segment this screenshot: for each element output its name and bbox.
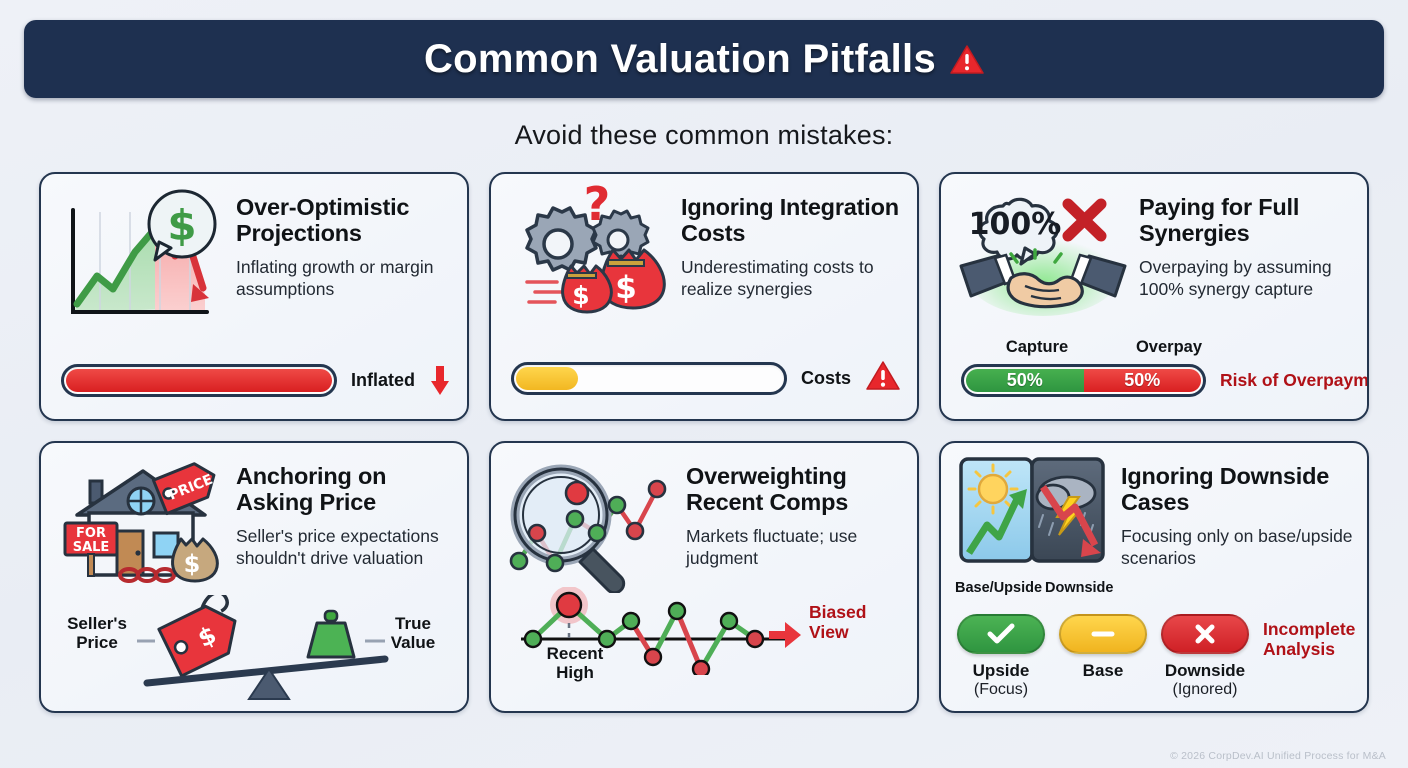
split-bar-track[interactable]: 50% 50% bbox=[961, 364, 1206, 397]
scenario-downside[interactable]: Downside (Ignored) bbox=[1161, 614, 1249, 699]
overpay-label: Overpay bbox=[1103, 338, 1235, 357]
downside-sub: (Ignored) bbox=[1161, 681, 1249, 699]
svg-text:100%: 100% bbox=[969, 207, 1062, 242]
synergy-split-meter: 50% 50% Risk of Overpayment bbox=[961, 364, 1351, 397]
svg-text:SALE: SALE bbox=[73, 540, 110, 555]
overpay-segment: 50% bbox=[1084, 369, 1202, 392]
svg-text:$: $ bbox=[167, 201, 196, 250]
handshake-100-percent-x-icon: 100% bbox=[955, 184, 1133, 329]
card-description: Markets fluctuate; use judgment bbox=[686, 526, 903, 570]
subtitle: Avoid these common mistakes: bbox=[24, 120, 1384, 151]
downside-name: Downside bbox=[1161, 661, 1249, 681]
base-pill[interactable] bbox=[1059, 614, 1147, 654]
progress-bar-track[interactable] bbox=[511, 362, 787, 395]
check-icon bbox=[986, 622, 1016, 646]
infographic-page: Common Valuation Pitfalls Avoid these co… bbox=[0, 0, 1408, 768]
scenario-pills: Upside (Focus) Base bbox=[957, 614, 1353, 699]
house-for-sale-price-tag-chain-icon: FOR SALE PRICE bbox=[55, 453, 230, 593]
base-upside-label: Base/Upside bbox=[955, 580, 1035, 596]
magnifier-over-scatter-icon bbox=[505, 453, 680, 598]
seesaw-figure: Seller's Price True Value $ bbox=[41, 593, 467, 705]
scenario-labels: Base/Upside Downside bbox=[955, 580, 1115, 596]
pitfall-card-over-optimistic-projections[interactable]: $ Over-Optimistic Projections Inflating … bbox=[39, 172, 469, 421]
page-title: Common Valuation Pitfalls bbox=[424, 37, 984, 82]
svg-text:FOR: FOR bbox=[76, 526, 106, 541]
scenario-upside[interactable]: Upside (Focus) bbox=[957, 614, 1045, 699]
zigzag-figure: Recent High Biased View bbox=[491, 587, 917, 703]
card-title: Paying for Full Synergies bbox=[1139, 194, 1353, 247]
warning-triangle-icon bbox=[865, 360, 901, 397]
pitfall-card-anchoring-on-asking-price[interactable]: FOR SALE PRICE bbox=[39, 441, 469, 713]
capture-segment: 50% bbox=[966, 369, 1084, 392]
progress-bar-fill bbox=[66, 369, 332, 392]
page-title-text: Common Valuation Pitfalls bbox=[424, 37, 936, 82]
card-title: Overweighting Recent Comps bbox=[686, 463, 903, 516]
inflated-meter: Inflated bbox=[61, 364, 451, 397]
recent-high-label: Recent High bbox=[527, 645, 623, 682]
progress-bar-fill bbox=[516, 367, 578, 390]
sellers-price-text: Seller's Price bbox=[67, 614, 127, 652]
card-title: Anchoring on Asking Price bbox=[236, 463, 453, 516]
biased-view-text: Biased View bbox=[809, 602, 866, 642]
sellers-price-label: Seller's Price bbox=[55, 615, 139, 652]
upside-sub: (Focus) bbox=[957, 681, 1045, 699]
recent-high-text: Recent High bbox=[547, 644, 604, 682]
svg-text:$: $ bbox=[184, 550, 201, 578]
progress-bar-track[interactable] bbox=[61, 364, 337, 397]
card-description: Inflating growth or margin assumptions bbox=[236, 257, 453, 301]
upside-name: Upside bbox=[957, 661, 1045, 681]
risk-note-text: Risk of Overpayment bbox=[1220, 370, 1369, 390]
meter-label: Costs bbox=[801, 368, 851, 389]
red-down-arrow-icon bbox=[429, 366, 451, 396]
svg-text:$: $ bbox=[615, 270, 637, 306]
dash-icon bbox=[1088, 622, 1118, 646]
x-icon bbox=[1190, 622, 1220, 646]
card-description: Overpaying by assuming 100% synergy capt… bbox=[1139, 257, 1353, 301]
svg-text:?: ? bbox=[584, 184, 611, 231]
warning-triangle-icon bbox=[950, 44, 984, 75]
scenario-base[interactable]: Base bbox=[1059, 614, 1147, 681]
upside-pill[interactable] bbox=[957, 614, 1045, 654]
downside-pill[interactable] bbox=[1161, 614, 1249, 654]
downside-label: Downside bbox=[1045, 580, 1113, 596]
capture-label: Capture bbox=[971, 338, 1103, 357]
pitfall-card-grid: $ Over-Optimistic Projections Inflating … bbox=[24, 172, 1384, 713]
gears-question-money-bags-icon: ? $ bbox=[505, 184, 675, 334]
header-bar: Common Valuation Pitfalls bbox=[24, 20, 1384, 98]
footer-credit: © 2026 CorpDev.AI Unified Process for M&… bbox=[1170, 750, 1386, 762]
sun-storm-scenario-panel-icon: Base/Upside Downside bbox=[955, 453, 1115, 596]
incomplete-analysis-text: Incomplete Analysis bbox=[1263, 619, 1355, 659]
base-name: Base bbox=[1059, 661, 1147, 681]
card-title: Over-Optimistic Projections bbox=[236, 194, 453, 247]
growth-chart-dollar-bubble-icon: $ bbox=[55, 184, 230, 334]
meter-label: Inflated bbox=[351, 370, 415, 391]
card-description: Seller's price expectations shouldn't dr… bbox=[236, 526, 453, 570]
svg-text:$: $ bbox=[572, 281, 589, 310]
card-title: Ignoring Integration Costs bbox=[681, 194, 903, 247]
card-description: Underestimating costs to realize synergi… bbox=[681, 257, 903, 301]
pitfall-card-paying-for-full-synergies[interactable]: 100% bbox=[939, 172, 1369, 421]
pitfall-card-ignoring-integration-costs[interactable]: ? $ bbox=[489, 172, 919, 421]
pill-row: Upside (Focus) Base bbox=[957, 614, 1353, 699]
split-meter-headers: Capture Overpay bbox=[971, 338, 1351, 357]
biased-view-callout: Biased View bbox=[809, 603, 893, 643]
card-description: Focusing only on base/upside scenarios bbox=[1121, 526, 1353, 570]
card-title: Ignoring Downside Cases bbox=[1121, 463, 1353, 516]
pitfall-card-overweighting-recent-comps[interactable]: Overweighting Recent Comps Markets fluct… bbox=[489, 441, 919, 713]
risk-note: Risk of Overpayment bbox=[1220, 371, 1369, 391]
pitfall-card-ignoring-downside-cases[interactable]: Base/Upside Downside Ignoring Downside C… bbox=[939, 441, 1369, 713]
costs-meter: Costs bbox=[511, 360, 901, 397]
incomplete-analysis-note: Incomplete Analysis bbox=[1263, 614, 1355, 660]
